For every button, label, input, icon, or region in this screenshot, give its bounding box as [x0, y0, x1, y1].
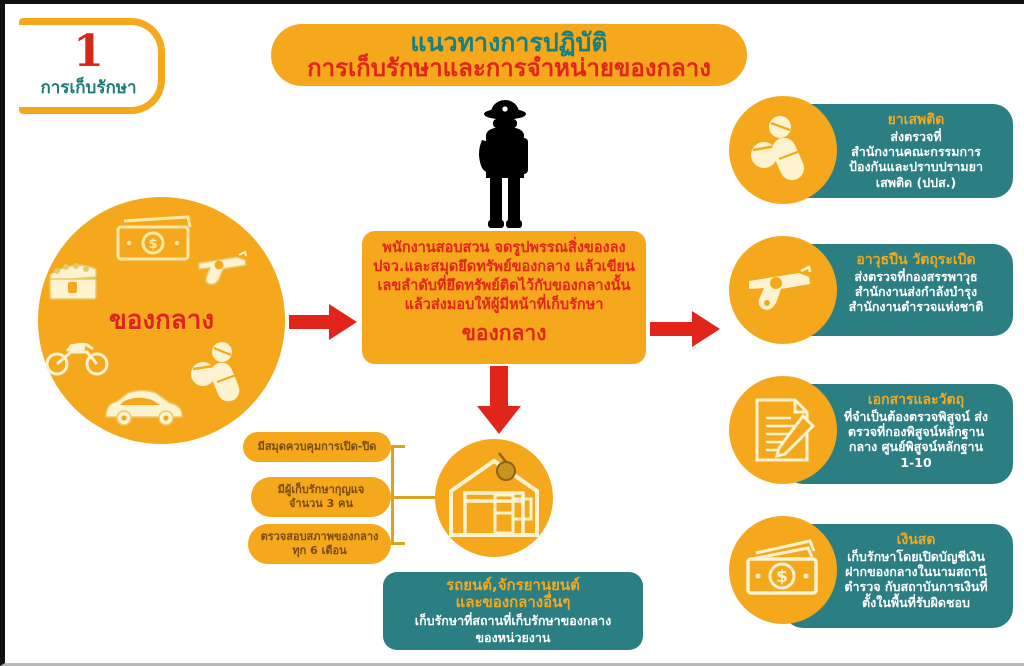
- goods-circle-label: ของกลาง: [38, 299, 285, 340]
- revolver-icon: [743, 263, 823, 317]
- cash-body-1: เก็บรักษาโดยเปิดบัญชีเงิน: [829, 549, 1003, 564]
- center-instruction-box: พนักงานสอบสวน จดรูปพรรณสิ่งของลง ปจว.และ…: [362, 231, 646, 364]
- cash-body-3: ตำรวจ กับสถาบันการเงินที่: [829, 579, 1003, 594]
- vehicles-heading-line-2: และของกลางอื่นๆ: [456, 594, 571, 611]
- narcotics-body-3: ป้องกันและปราบปรามยา: [829, 159, 1003, 174]
- narcotics-body-1: ส่งตรวจที่: [829, 129, 1003, 144]
- infographic-canvas: 1 การเก็บรักษา แนวทางการปฏิบัติ การเก็บร…: [0, 0, 1024, 666]
- police-officer-icon: [460, 100, 550, 230]
- step-badge: 1 การเก็บรักษา: [19, 18, 165, 114]
- pills-capsule-icon: [746, 115, 820, 185]
- treasure-chest-icon: [42, 257, 104, 305]
- connector-stub-2: [391, 496, 437, 499]
- title-line-2: การเก็บรักษาและการจำหน่ายของกลาง: [307, 56, 711, 82]
- vehicles-heading-line-1: รถยนต์,จักรยานยนต์: [446, 577, 580, 594]
- warehouse-circle: [435, 439, 553, 557]
- firearms-heading: อาวุธปืน วัตถุระเบิด: [829, 252, 1003, 269]
- storage-rule-2: มีผู้เก็บรักษากุญแจ จำนวน 3 คน: [251, 477, 391, 517]
- narcotics-body-4: เสพติด (ปปส.): [829, 175, 1003, 190]
- documents-body-3: กลาง ศูนย์พิสูจน์หลักฐาน: [829, 439, 1003, 454]
- warehouse-storage-icon: [435, 439, 553, 557]
- svg-text:$: $: [148, 237, 157, 252]
- firearms-body-2: สำนักงานส่งกำลังบำรุง: [829, 284, 1003, 299]
- step-caption: การเก็บรักษา: [40, 74, 136, 101]
- documents-heading: เอกสารและวัตถุ: [829, 392, 1003, 409]
- storage-rule-1-text: มีสมุดควบคุมการเปิด-ปิด: [258, 440, 377, 454]
- cash-body-4: ตั้งในพื้นที่รับผิดชอบ: [829, 595, 1003, 610]
- storage-rule-3: ตรวจสอบสภาพของกลาง ทุก 6 เดือน: [248, 524, 391, 564]
- svg-text:$: $: [776, 567, 788, 587]
- storage-rule-2-line-1: มีผู้เก็บรักษากุญแจ: [278, 483, 365, 496]
- title-line-1: แนวทางการปฏิบัติ: [410, 29, 607, 56]
- center-line-4: แล้วส่งมอบให้ผู้มีหน้าที่เก็บรักษา: [372, 296, 636, 315]
- storage-rule-3-line-1: ตรวจสอบสภาพของกลาง: [261, 530, 379, 543]
- documents-body-4: 1-10: [829, 455, 1003, 470]
- document-pen-icon: [747, 394, 819, 466]
- arrow-down-icon: [475, 366, 523, 436]
- storage-rule-3-text: ตรวจสอบสภาพของกลาง ทุก 6 เดือน: [261, 530, 379, 558]
- firearms-body-1: ส่งตรวจที่กองสรรพาวุธ: [829, 269, 1003, 284]
- vehicles-body-line-1: เก็บรักษาที่สถานที่เก็บรักษาของกลาง: [415, 613, 611, 628]
- cash-heading: เงินสด: [829, 532, 1003, 549]
- vehicles-storage-box: รถยนต์,จักรยานยนต์ และของกลางอื่นๆ เก็บร…: [383, 572, 643, 650]
- vehicles-body-line-2: ของหน่วยงาน: [476, 630, 551, 645]
- narcotics-icon-circle: [729, 96, 837, 204]
- connector-vertical: [391, 445, 394, 545]
- cash-icon-circle: $: [729, 516, 837, 624]
- center-line-1: พนักงานสอบสวน จดรูปพรรณสิ่งของลง: [372, 239, 636, 258]
- documents-icon-circle: [729, 376, 837, 484]
- center-emphasis: ของกลาง: [372, 317, 636, 350]
- car-icon: [100, 383, 192, 427]
- connector-stub-3: [391, 542, 405, 545]
- cash-money-icon: $: [740, 539, 826, 601]
- storage-rule-3-line-2: ทุก 6 เดือน: [292, 544, 346, 557]
- documents-body-1: ที่จำเป็นต้องตรวจพิสูจน์ ส่ง: [829, 409, 1003, 424]
- revolver-icon: [193, 249, 253, 289]
- step-number: 1: [73, 31, 104, 73]
- pills-capsule-icon: [186, 342, 256, 406]
- connector-stub-1: [391, 445, 405, 448]
- storage-rule-2-text: มีผู้เก็บรักษากุญแจ จำนวน 3 คน: [278, 483, 365, 511]
- arrow-right-icon: [289, 300, 359, 344]
- storage-rule-1: มีสมุดควบคุมการเปิด-ปิด: [243, 432, 391, 462]
- cash-body-2: ฝากของกลางในนามสถานี: [829, 564, 1003, 579]
- firearms-icon-circle: [729, 236, 837, 344]
- center-line-2: ปจว.และสมุดยึดทรัพย์ของกลาง แล้วเขียน: [372, 258, 636, 277]
- narcotics-heading: ยาเสพติด: [829, 112, 1003, 129]
- title-banner: แนวทางการปฏิบัติ การเก็บรักษาและการจำหน่…: [271, 24, 747, 86]
- banknote-icon: $: [110, 215, 196, 265]
- goods-circle: $: [38, 197, 285, 444]
- arrow-right-icon: [650, 307, 722, 351]
- narcotics-body-2: สำนักงานคณะกรรมการ: [829, 144, 1003, 159]
- storage-rule-2-line-2: จำนวน 3 คน: [289, 497, 353, 510]
- center-line-3: เลขลำดับที่ยึดทรัพย์ติดไว้กับของกลางนั้น: [372, 277, 636, 296]
- firearms-body-3: สำนักงานตำรวจแห่งชาติ: [829, 299, 1003, 314]
- documents-body-2: ตรวจที่กองพิสูจน์หลักฐาน: [829, 424, 1003, 439]
